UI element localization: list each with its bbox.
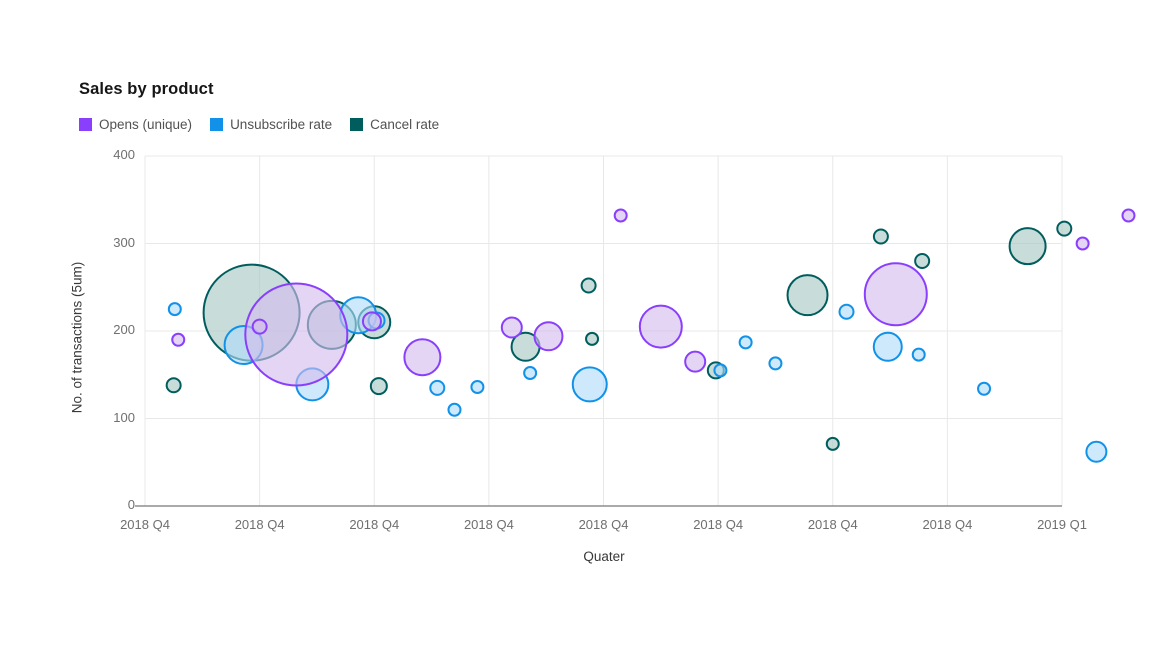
y-tick-label: 200: [83, 322, 135, 337]
bubble-point[interactable]: [714, 364, 726, 376]
bubble-point[interactable]: [769, 357, 781, 369]
bubble-point[interactable]: [685, 352, 705, 372]
bubble-point[interactable]: [167, 378, 181, 392]
bubble-point[interactable]: [1077, 238, 1089, 250]
y-tick-label: 100: [83, 410, 135, 425]
bubble-point[interactable]: [371, 378, 387, 394]
x-tick-label: 2018 Q4: [579, 517, 629, 532]
bubble-point[interactable]: [582, 279, 596, 293]
x-tick-label: 2018 Q4: [693, 517, 743, 532]
bubble-point[interactable]: [978, 383, 990, 395]
bubble-point[interactable]: [253, 320, 267, 334]
bubble-point[interactable]: [172, 334, 184, 346]
bubble-point[interactable]: [840, 305, 854, 319]
x-tick-label: 2018 Q4: [464, 517, 514, 532]
bubble-point[interactable]: [874, 230, 888, 244]
x-tick-label: 2018 Q4: [808, 517, 858, 532]
bubble-point[interactable]: [874, 333, 902, 361]
bubble-point[interactable]: [573, 367, 607, 401]
bubble-point[interactable]: [615, 210, 627, 222]
x-tick-label: 2018 Q4: [349, 517, 399, 532]
bubble-point[interactable]: [740, 336, 752, 348]
x-tick-label: 2018 Q4: [922, 517, 972, 532]
bubble-point[interactable]: [586, 333, 598, 345]
y-tick-label: 400: [83, 147, 135, 162]
bubble-point[interactable]: [1057, 222, 1071, 236]
bubble-point[interactable]: [913, 349, 925, 361]
bubble-point[interactable]: [788, 275, 828, 315]
bubble-point[interactable]: [448, 404, 460, 416]
bubble-point[interactable]: [169, 303, 181, 315]
series-opens-unique: [172, 210, 1134, 386]
y-tick-label: 0: [83, 497, 135, 512]
bubble-point[interactable]: [404, 339, 440, 375]
bubble-point[interactable]: [915, 254, 929, 268]
bubble-point[interactable]: [1010, 228, 1046, 264]
bubble-point[interactable]: [1122, 210, 1134, 222]
bubble-chart-card: Sales by product Opens (unique)Unsubscri…: [0, 0, 1152, 648]
bubble-point[interactable]: [534, 322, 562, 350]
bubble-point[interactable]: [502, 318, 522, 338]
x-tick-label: 2018 Q4: [235, 517, 285, 532]
x-tick-label: 2019 Q1: [1037, 517, 1087, 532]
bubble-point[interactable]: [363, 312, 381, 330]
bubble-point[interactable]: [640, 306, 682, 348]
bubble-point[interactable]: [471, 381, 483, 393]
x-tick-label: 2018 Q4: [120, 517, 170, 532]
bubble-point[interactable]: [865, 263, 927, 325]
y-tick-label: 300: [83, 235, 135, 250]
bubble-point[interactable]: [827, 438, 839, 450]
scatter-plot-canvas: [0, 0, 1152, 648]
bubble-point[interactable]: [524, 367, 536, 379]
bubble-layer: [167, 210, 1152, 488]
plot-area-wrapper: No. of transactions (5um) Quater 0100200…: [0, 0, 1152, 648]
bubble-point[interactable]: [430, 381, 444, 395]
bubble-point[interactable]: [1086, 442, 1106, 462]
